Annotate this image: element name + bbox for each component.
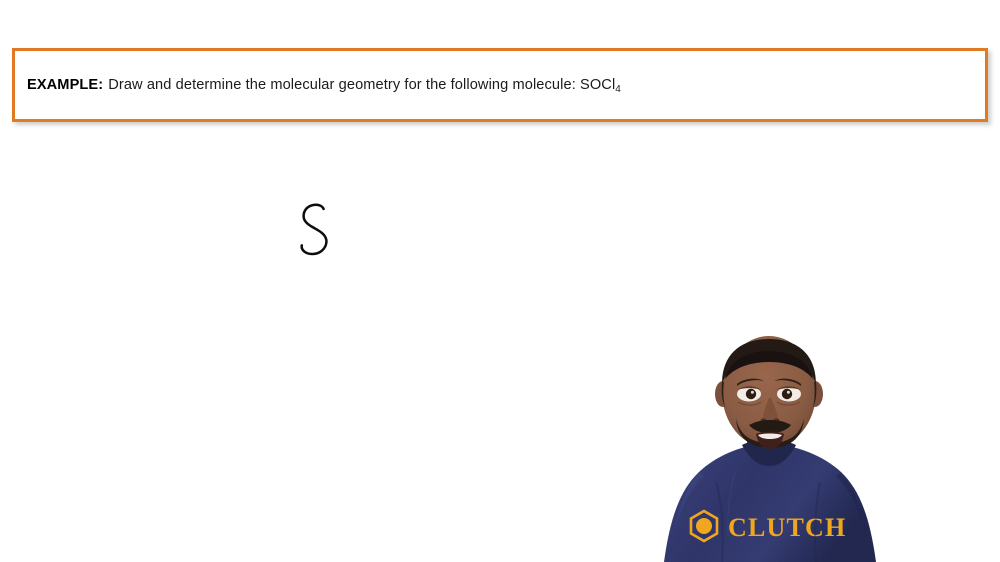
instructor-video-overlay: CLUTCH bbox=[604, 332, 934, 562]
molecule-formula: SOCl4 bbox=[576, 77, 621, 93]
example-prompt-text: EXAMPLE: Draw and determine the molecula… bbox=[27, 51, 975, 119]
handwritten-drawing-layer bbox=[0, 140, 620, 400]
example-question-text: Draw and determine the molecular geometr… bbox=[108, 77, 576, 93]
formula-elements: SOCl bbox=[580, 77, 615, 93]
clutch-wordmark: CLUTCH bbox=[728, 513, 846, 542]
example-prompt-box: EXAMPLE: Draw and determine the molecula… bbox=[12, 48, 988, 122]
example-label: EXAMPLE: bbox=[27, 77, 103, 93]
whiteboard-canvas: EXAMPLE: Draw and determine the molecula… bbox=[0, 0, 1000, 562]
formula-subscript: 4 bbox=[615, 84, 621, 95]
handwritten-atom-sulfur bbox=[292, 202, 344, 264]
